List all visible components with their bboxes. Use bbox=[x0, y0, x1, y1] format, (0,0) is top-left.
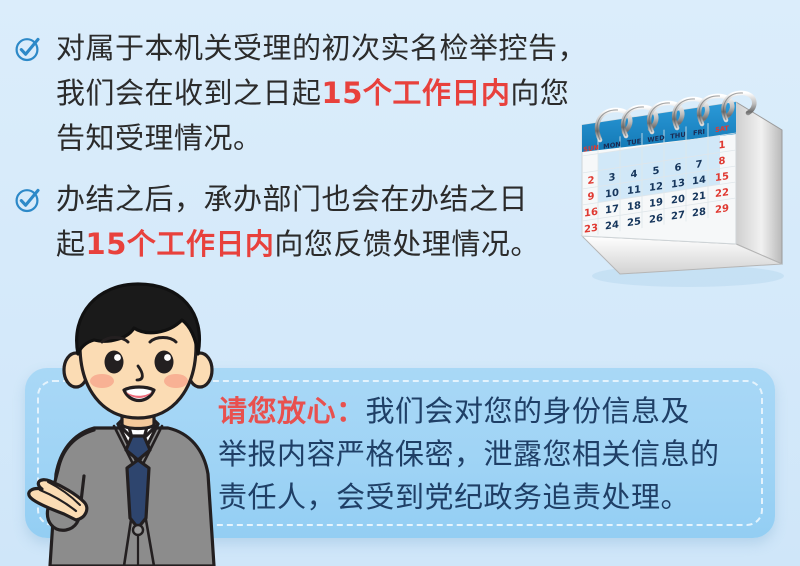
calendar-day: 17 bbox=[605, 204, 619, 217]
card-line: 举报内容严格保密，泄露您相关信息的 bbox=[218, 437, 720, 471]
text-run: 向您 bbox=[510, 76, 569, 110]
calendar-day: 8 bbox=[719, 156, 726, 168]
calendar-day: 15 bbox=[715, 171, 729, 184]
check-circle-icon bbox=[14, 35, 42, 63]
cartoon-official-illustration: 男性工作人员插画 bbox=[18, 278, 258, 566]
calendar-day: 3 bbox=[609, 172, 616, 184]
calendar-day: 12 bbox=[649, 181, 663, 194]
list-item-line: 告知受理情况。 bbox=[56, 116, 614, 161]
list-item-line: 我们会在收到之日起15个工作日内向您 bbox=[56, 71, 614, 116]
card-line: 我们会对您的身份信息及 bbox=[366, 394, 691, 428]
list-item-text: 办结之后，承办部门也会在办结之日 起15个工作日内向您反馈处理情况。 bbox=[56, 177, 614, 267]
text-run: 办结之后，承办部门也会在办结之日 bbox=[56, 182, 528, 216]
calendar-day: 29 bbox=[715, 203, 729, 216]
calendar-day: 1 bbox=[719, 140, 726, 152]
calendar-day: 22 bbox=[715, 187, 729, 200]
highlight-run: 15个工作日内 bbox=[322, 76, 511, 110]
calendar-day: 5 bbox=[653, 165, 660, 177]
list-item: 对属于本机关受理的初次实名检举控告， 我们会在收到之日起15个工作日内向您 告知… bbox=[14, 26, 614, 161]
calendar-day: 21 bbox=[692, 191, 706, 204]
text-run: 起 bbox=[56, 227, 86, 261]
calendar-day: 26 bbox=[649, 213, 663, 226]
highlight-run: 15个工作日内 bbox=[86, 227, 275, 261]
calendar-day: 18 bbox=[627, 200, 641, 213]
desk-calendar-illustration: SUN MON TUE WED THU FRI SAT 1 2 3 4 5 bbox=[576, 78, 800, 290]
poster-root: 对属于本机关受理的初次实名检举控告， 我们会在收到之日起15个工作日内向您 告知… bbox=[0, 0, 800, 566]
list-item-line: 起15个工作日内向您反馈处理情况。 bbox=[56, 222, 614, 267]
calendar-day: 14 bbox=[692, 175, 706, 188]
list-item-text: 对属于本机关受理的初次实名检举控告， 我们会在收到之日起15个工作日内向您 告知… bbox=[56, 26, 614, 161]
list-item: 办结之后，承办部门也会在办结之日 起15个工作日内向您反馈处理情况。 bbox=[14, 177, 614, 267]
text-run: 我们会在收到之日起 bbox=[56, 76, 322, 110]
calendar-day: 27 bbox=[671, 210, 685, 223]
card-line: 责任人，会受到党纪政务追责处理。 bbox=[218, 480, 690, 514]
calendar-day: 28 bbox=[692, 207, 706, 220]
calendar-day: 9 bbox=[588, 191, 595, 203]
calendar-day: 2 bbox=[588, 175, 595, 187]
calendar-day: 24 bbox=[605, 220, 619, 233]
calendar-day: 4 bbox=[631, 169, 638, 181]
list-item-line: 办结之后，承办部门也会在办结之日 bbox=[56, 177, 614, 222]
calendar-day: 7 bbox=[696, 159, 703, 171]
check-circle-icon bbox=[14, 186, 42, 214]
calendar-day: 6 bbox=[675, 162, 682, 174]
calendar-day: 25 bbox=[627, 216, 641, 229]
calendar-day: 11 bbox=[627, 184, 641, 197]
calendar-day: 23 bbox=[584, 223, 598, 236]
list-item-line: 对属于本机关受理的初次实名检举控告， bbox=[56, 26, 614, 71]
text-run: 告知受理情况。 bbox=[56, 121, 263, 155]
calendar-day: 10 bbox=[605, 188, 619, 201]
calendar-day: 13 bbox=[671, 178, 685, 191]
text-run: 向您反馈处理情况。 bbox=[274, 227, 540, 261]
calendar-day: 19 bbox=[649, 197, 663, 210]
text-run: 对属于本机关受理的初次实名检举控告， bbox=[56, 31, 587, 65]
bullet-list: 对属于本机关受理的初次实名检举控告， 我们会在收到之日起15个工作日内向您 告知… bbox=[14, 26, 614, 283]
calendar-day: 20 bbox=[671, 194, 685, 207]
calendar-day: 16 bbox=[584, 207, 598, 220]
reassurance-card-text: 请您放心：我们会对您的身份信息及 举报内容严格保密，泄露您相关信息的 责任人，会… bbox=[218, 390, 763, 519]
